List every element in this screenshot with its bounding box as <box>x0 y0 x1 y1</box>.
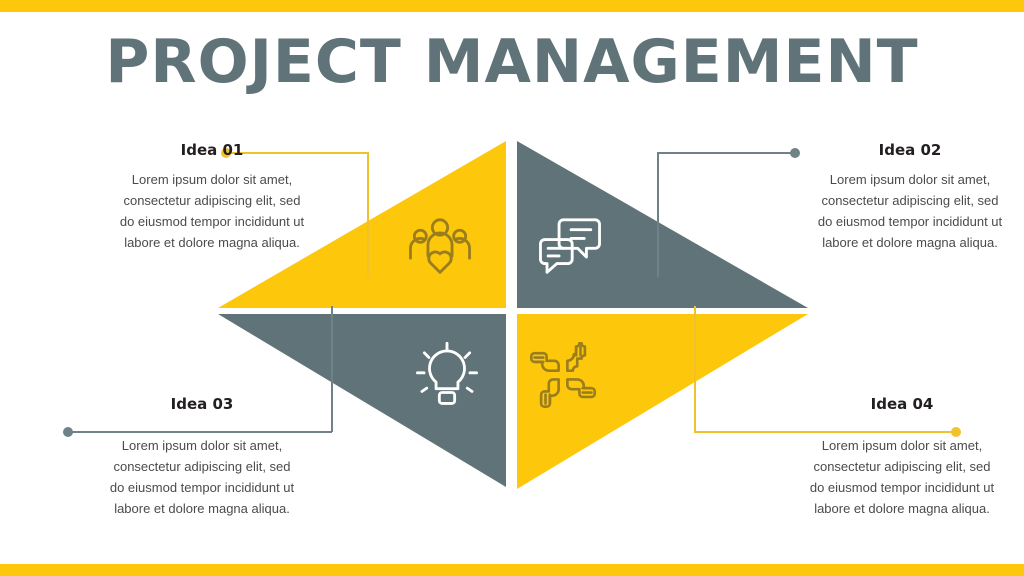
idea-03-body: Lorem ipsum dolor sit amet, consectetur … <box>52 435 352 519</box>
idea-03-heading: Idea 03 <box>52 396 352 413</box>
idea-01-heading: Idea 01 <box>62 142 362 159</box>
lightbulb-icon <box>412 340 482 410</box>
idea-04-heading: Idea 04 <box>752 396 1024 413</box>
idea-block-03[interactable]: Idea 03 Lorem ipsum dolor sit amet, cons… <box>52 396 352 519</box>
idea-02-body: Lorem ipsum dolor sit amet, consectetur … <box>760 169 1024 253</box>
page-title: PROJECT MANAGEMENT <box>0 32 1024 92</box>
top-accent-bar <box>0 0 1024 12</box>
slide-canvas: PROJECT MANAGEMENT <box>0 0 1024 576</box>
bottom-accent-bar <box>0 564 1024 576</box>
chat-bubbles-icon <box>535 210 605 280</box>
idea-block-02[interactable]: Idea 02 Lorem ipsum dolor sit amet, cons… <box>760 142 1024 253</box>
people-heart-icon <box>405 210 475 280</box>
connector-line-idea-02-vertical <box>657 152 659 277</box>
connector-line-idea-04-vertical <box>694 306 696 432</box>
teamwork-hands-icon <box>528 340 598 410</box>
connector-line-idea-01-vertical <box>367 152 369 277</box>
idea-04-body: Lorem ipsum dolor sit amet, consectetur … <box>752 435 1024 519</box>
idea-02-heading: Idea 02 <box>760 142 1024 159</box>
idea-block-04[interactable]: Idea 04 Lorem ipsum dolor sit amet, cons… <box>752 396 1024 519</box>
idea-block-01[interactable]: Idea 01 Lorem ipsum dolor sit amet, cons… <box>62 142 362 253</box>
idea-01-body: Lorem ipsum dolor sit amet, consectetur … <box>62 169 362 253</box>
